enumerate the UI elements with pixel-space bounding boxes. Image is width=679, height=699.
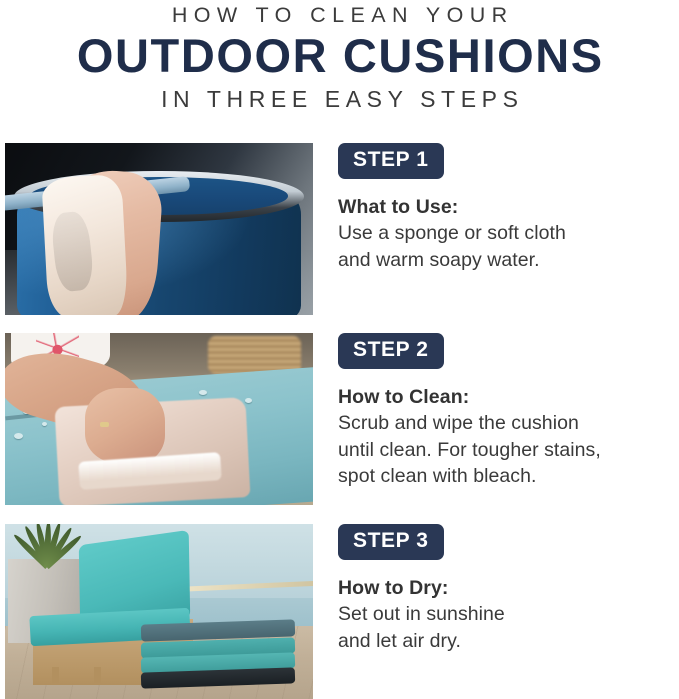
water-droplet bbox=[199, 390, 207, 395]
wiping-teal-cushion-photo bbox=[5, 333, 313, 505]
step-3-body-line-1: Set out in sunshine bbox=[338, 601, 674, 628]
hand bbox=[85, 388, 165, 464]
page-title-line-1: HOW TO CLEAN YOUR bbox=[0, 2, 679, 28]
agave-plant bbox=[8, 524, 82, 566]
step-2-body-line-2: until clean. For tougher stains, bbox=[338, 437, 674, 464]
chair-leg bbox=[94, 667, 101, 683]
step-badge-3: STEP 3 bbox=[338, 524, 444, 560]
step-1-body-line-1: Use a sponge or soft cloth bbox=[338, 220, 674, 247]
step-section-1: STEP 1 What to Use: Use a sponge or soft… bbox=[0, 143, 679, 315]
step-3-text-column: STEP 3 How to Dry: Set out in sunshine a… bbox=[338, 524, 674, 654]
chair-leg bbox=[52, 667, 59, 683]
step-section-2: STEP 2 How to Clean: Scrub and wipe the … bbox=[0, 333, 679, 505]
step-badge-1: STEP 1 bbox=[338, 143, 444, 179]
step-3-heading: How to Dry: bbox=[338, 575, 674, 601]
step-1-body-line-2: and warm soapy water. bbox=[338, 247, 674, 274]
step-2-body-line-1: Scrub and wipe the cushion bbox=[338, 410, 674, 437]
step-2-heading: How to Clean: bbox=[338, 384, 674, 410]
page-header: HOW TO CLEAN YOUR OUTDOOR CUSHIONS IN TH… bbox=[0, 0, 679, 114]
poolside-lounge-chair-photo bbox=[5, 524, 313, 699]
step-section-3: STEP 3 How to Dry: Set out in sunshine a… bbox=[0, 524, 679, 699]
page-title: OUTDOOR CUSHIONS bbox=[0, 28, 679, 84]
blue-bucket-with-cloth-photo bbox=[5, 143, 313, 315]
water-droplet bbox=[14, 433, 23, 439]
step-1-text-column: STEP 1 What to Use: Use a sponge or soft… bbox=[338, 143, 674, 273]
page-title-line-3: IN THREE EASY STEPS bbox=[0, 84, 679, 114]
step-3-body-line-2: and let air dry. bbox=[338, 628, 674, 655]
step-2-text-column: STEP 2 How to Clean: Scrub and wipe the … bbox=[338, 333, 674, 490]
step-badge-2: STEP 2 bbox=[338, 333, 444, 369]
step-1-heading: What to Use: bbox=[338, 194, 674, 220]
stacked-cushions bbox=[141, 622, 295, 689]
step-2-body-line-3: spot clean with bleach. bbox=[338, 463, 674, 490]
